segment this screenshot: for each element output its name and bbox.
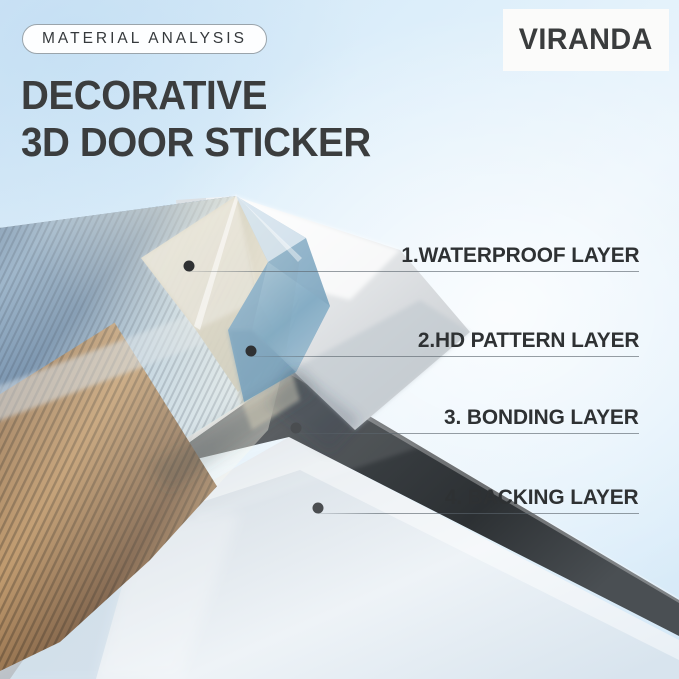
callout-leader-line <box>296 433 639 434</box>
callout-label: 1.WATERPROOF LAYER <box>401 243 639 268</box>
callout-leader-line <box>318 513 639 514</box>
page-title-line-2: 3D DOOR STICKER <box>21 122 371 163</box>
brand-logo-text: VIRANDA <box>519 23 653 57</box>
callout-leader-line <box>251 356 639 357</box>
callout-anchor-dot <box>313 503 324 514</box>
callout-label: 2.HD PATTERN LAYER <box>417 328 639 353</box>
eyebrow-pill: MATERIAL ANALYSIS <box>22 24 267 54</box>
callout-anchor-dot <box>291 423 302 434</box>
callout-anchor-dot <box>184 261 195 272</box>
eyebrow-label: MATERIAL ANALYSIS <box>42 30 247 48</box>
brand-logo-box: VIRANDA <box>503 9 669 71</box>
poster-canvas: MATERIAL ANALYSIS DECORATIVE 3D DOOR STI… <box>0 0 679 679</box>
callout-anchor-dot <box>246 346 257 357</box>
callout-leader-line <box>189 271 639 272</box>
callout-label: 4. BACKING LAYER <box>445 485 639 510</box>
page-title-line-1: DECORATIVE <box>21 75 267 116</box>
callout-label: 3. BONDING LAYER <box>444 405 639 430</box>
